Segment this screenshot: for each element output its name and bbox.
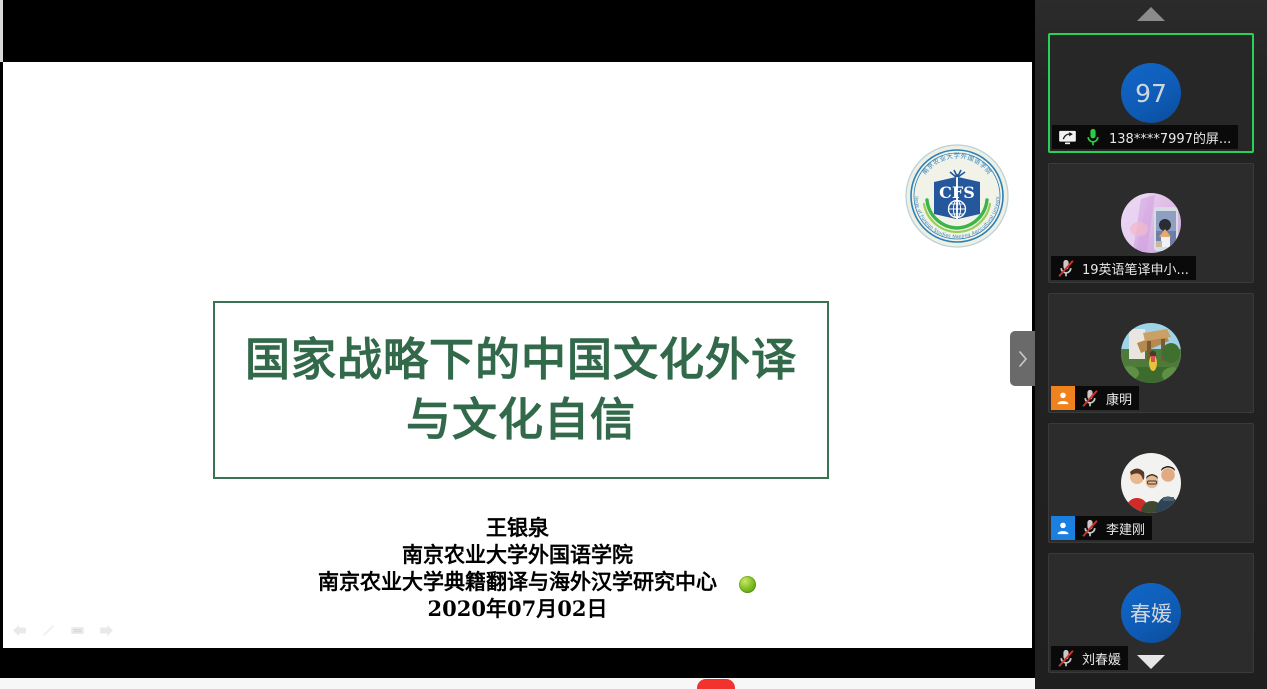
- previous-slide-icon[interactable]: [11, 622, 28, 639]
- scroll-down-arrow[interactable]: [1035, 648, 1267, 676]
- pen-icon[interactable]: [40, 622, 57, 639]
- participant-name: 138****7997的屏...: [1109, 128, 1231, 147]
- microphone-muted-icon: [1079, 517, 1101, 539]
- slide-title-line-2: 与文化自信: [406, 393, 636, 446]
- person-icon: [1051, 386, 1075, 410]
- screen-share-icon: [1056, 126, 1078, 148]
- stage-left-edge: [0, 0, 3, 62]
- participant-tile[interactable]: 19英语笔译申小...: [1048, 163, 1254, 283]
- menu-icon[interactable]: [69, 622, 86, 639]
- green-bullet-icon: [739, 576, 756, 593]
- collapse-sidebar-handle[interactable]: [1010, 331, 1035, 386]
- subtitle-date: 2020年07月02日: [3, 595, 1032, 622]
- triangle-down-icon: [1137, 655, 1165, 669]
- chevron-right-icon: [1017, 350, 1029, 368]
- shared-screen-stage: 南京农业大学外国语学院 College of Foreign Studies N…: [0, 0, 1035, 689]
- subtitle-college: 南京农业大学外国语学院: [3, 541, 1032, 568]
- participant-name: 李建刚: [1106, 519, 1145, 538]
- slide-title: 国家战略下的中国文化外译 与文化自信: [231, 330, 811, 450]
- microphone-icon: [1082, 126, 1104, 148]
- scroll-up-arrow[interactable]: [1035, 0, 1267, 28]
- subtitle-author: 王银泉: [3, 514, 1032, 541]
- svg-text:CFS: CFS: [939, 183, 975, 202]
- slide-title-box: 国家战略下的中国文化外译 与文化自信: [213, 301, 829, 479]
- avatar: [1121, 193, 1181, 253]
- bottom-strip: [0, 678, 1035, 689]
- participant-sidebar: 97 138*: [1035, 0, 1267, 689]
- participant-name-bar: 李建刚: [1051, 516, 1152, 540]
- leave-meeting-button[interactable]: [697, 679, 735, 689]
- avatar: [1121, 453, 1181, 513]
- person-icon: [1051, 516, 1075, 540]
- next-slide-icon[interactable]: [98, 622, 115, 639]
- presentation-slide: 南京农业大学外国语学院 College of Foreign Studies N…: [3, 62, 1032, 648]
- avatar: 97: [1121, 63, 1181, 123]
- slide-subtitle: 王银泉 南京农业大学外国语学院 南京农业大学典籍翻译与海外汉学研究中心 2020…: [3, 514, 1032, 622]
- participant-tile[interactable]: 康明: [1048, 293, 1254, 413]
- slideshow-controls: [11, 622, 115, 639]
- participant-name: 康明: [1106, 389, 1132, 408]
- participant-name-bar: 19英语笔译申小...: [1051, 256, 1196, 280]
- avatar: [1121, 323, 1181, 383]
- avatar: 春媛: [1121, 583, 1181, 643]
- triangle-up-icon: [1137, 7, 1165, 21]
- slide-title-line-1: 国家战略下的中国文化外译: [245, 333, 797, 386]
- subtitle-center: 南京农业大学典籍翻译与海外汉学研究中心: [3, 568, 1032, 595]
- participant-tile[interactable]: 97 138*: [1048, 33, 1254, 153]
- microphone-muted-icon: [1079, 387, 1101, 409]
- participant-name-bar: 138****7997的屏...: [1052, 125, 1238, 149]
- microphone-muted-icon: [1055, 257, 1077, 279]
- cfs-seal-logo: 南京农业大学外国语学院 College of Foreign Studies N…: [903, 142, 1011, 250]
- meeting-window: 南京农业大学外国语学院 College of Foreign Studies N…: [0, 0, 1267, 689]
- participant-tile[interactable]: 李建刚: [1048, 423, 1254, 543]
- participant-name: 19英语笔译申小...: [1082, 259, 1189, 278]
- participant-name-bar: 康明: [1051, 386, 1139, 410]
